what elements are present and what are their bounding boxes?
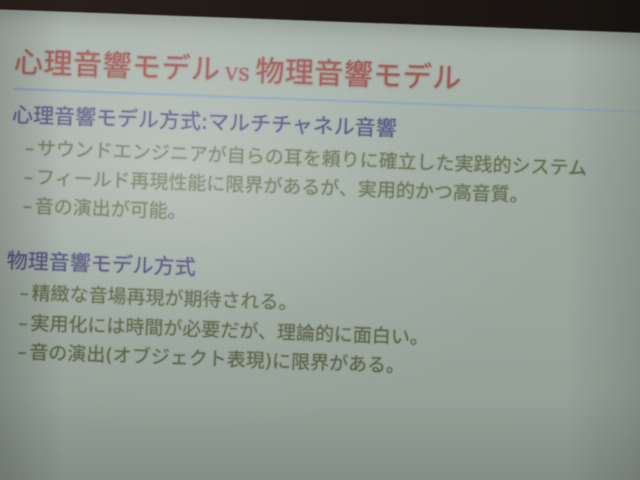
title-left-term: 心理音響モデル	[13, 45, 221, 87]
slide-title: 心理音響モデルvs物理音響モデル	[13, 46, 640, 103]
bullet-dash-icon: –	[8, 192, 35, 222]
title-right-term: 物理音響モデル	[255, 54, 463, 96]
bullet-dash-icon: –	[3, 338, 30, 368]
title-vs-separator: vs	[220, 57, 256, 86]
bullet-list: – サウンドエンジニアが自らの耳を頼りに確立した実践的システム – フィールド再…	[8, 133, 640, 245]
bullet-dash-icon: –	[4, 308, 31, 338]
bullet-dash-icon: –	[9, 163, 36, 193]
section-physical-model: 物理音響モデル方式 – 精緻な音場再現が期待される。 – 実用化には時間が必要だ…	[3, 248, 640, 391]
bullet-dash-icon: –	[5, 279, 32, 309]
slide-content: 心理音響モデルvs物理音響モデル 心理音響モデル方式:マルチチャネル音響 – サ…	[3, 46, 640, 391]
bullet-list: – 精緻な音場再現が期待される。 – 実用化には時間が必要だが、理論的に面白い。…	[3, 279, 640, 391]
projected-slide-photo: 心理音響モデルvs物理音響モデル 心理音響モデル方式:マルチチャネル音響 – サ…	[0, 0, 640, 480]
projection-screen: 心理音響モデルvs物理音響モデル 心理音響モデル方式:マルチチャネル音響 – サ…	[0, 8, 640, 480]
section-psychoacoustic-model: 心理音響モデル方式:マルチチャネル音響 – サウンドエンジニアが自らの耳を頼りに…	[8, 102, 640, 245]
bullet-dash-icon: –	[10, 133, 37, 163]
